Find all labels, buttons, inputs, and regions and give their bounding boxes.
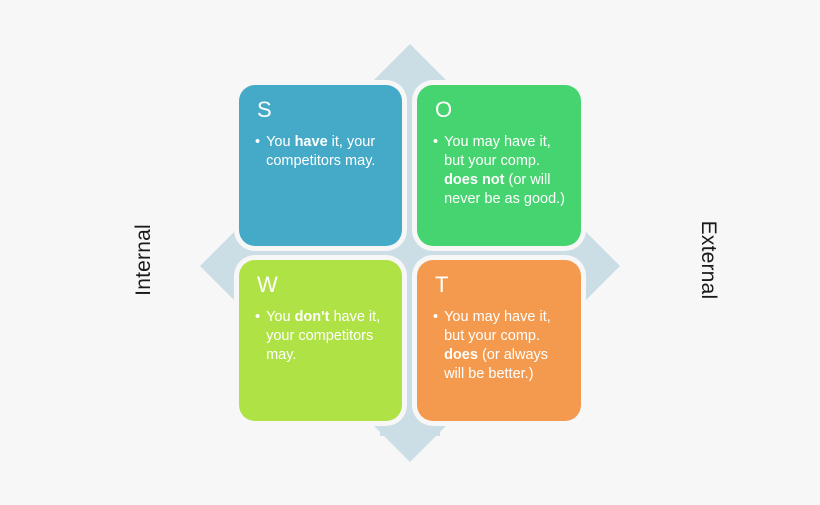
bullet-icon: • bbox=[255, 308, 260, 327]
quadrant-text-opportunities: You may have it, but your comp. does not… bbox=[444, 133, 565, 209]
quadrant-letter-s: S bbox=[257, 99, 386, 121]
quadrant-letter-w: W bbox=[257, 274, 386, 296]
quadrant-weaknesses[interactable]: W • You don't have it, your competitors … bbox=[239, 260, 402, 421]
quadrant-body-opportunities: • You may have it, but your comp. does n… bbox=[433, 133, 565, 209]
axis-label-external: External bbox=[696, 185, 720, 335]
quadrant-text-threats: You may have it, but your comp. does (or… bbox=[444, 308, 565, 384]
quadrant-body-weaknesses: • You don't have it, your competitors ma… bbox=[255, 308, 386, 365]
axis-label-internal: Internal bbox=[132, 185, 156, 335]
quadrant-body-strengths: • You have it, your competitors may. bbox=[255, 133, 386, 171]
quadrant-letter-o: O bbox=[435, 99, 565, 121]
quadrant-letter-t: T bbox=[435, 274, 565, 296]
quadrant-opportunities[interactable]: O • You may have it, but your comp. does… bbox=[417, 85, 581, 246]
quadrant-body-threats: • You may have it, but your comp. does (… bbox=[433, 308, 565, 384]
quadrant-strengths[interactable]: S • You have it, your competitors may. bbox=[239, 85, 402, 246]
swot-diagram: S • You have it, your competitors may. O… bbox=[0, 0, 820, 505]
bullet-icon: • bbox=[255, 133, 260, 152]
bullet-icon: • bbox=[433, 308, 438, 327]
quadrant-text-strengths: You have it, your competitors may. bbox=[266, 133, 386, 171]
bullet-icon: • bbox=[433, 133, 438, 152]
quadrant-threats[interactable]: T • You may have it, but your comp. does… bbox=[417, 260, 581, 421]
quadrant-text-weaknesses: You don't have it, your competitors may. bbox=[266, 308, 386, 365]
